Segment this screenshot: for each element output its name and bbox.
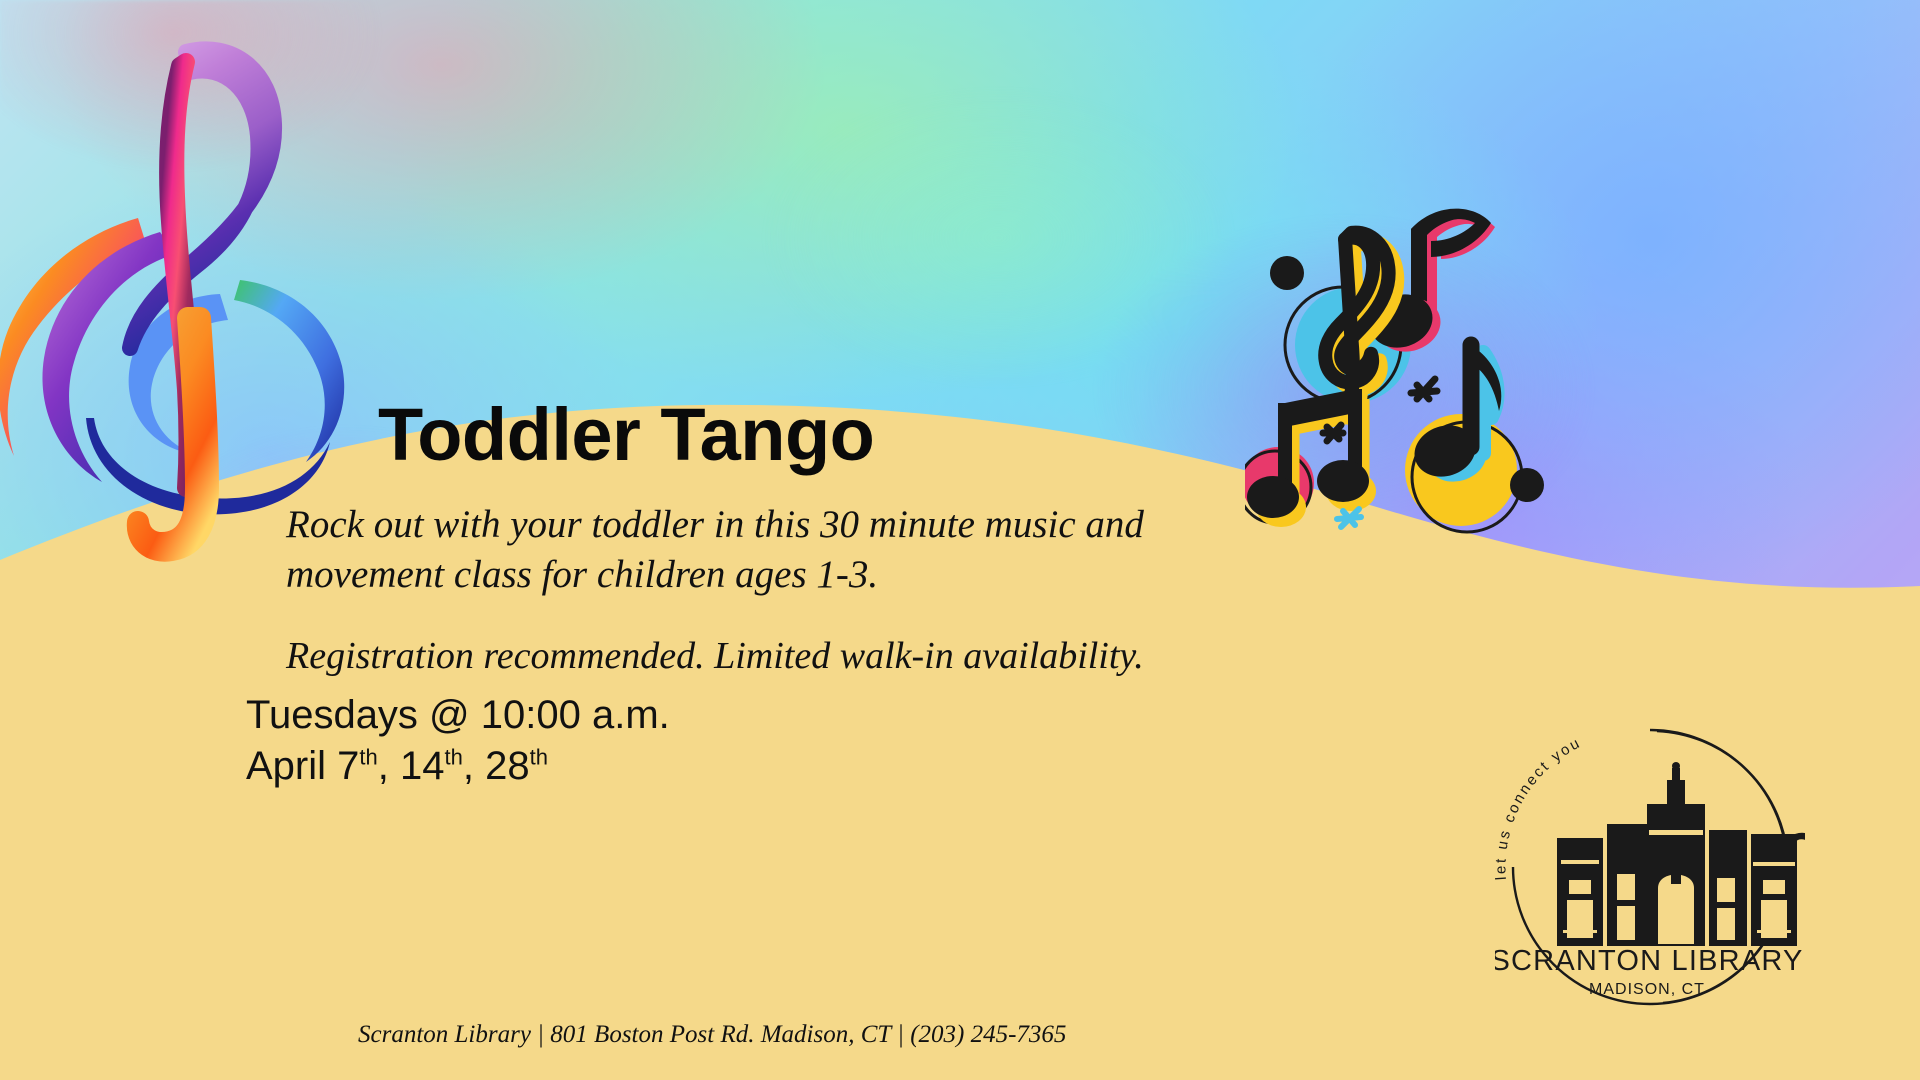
footer-contact: Scranton Library | 801 Boston Post Rd. M… (358, 1021, 1066, 1049)
schedule-day-3-suffix: th (530, 745, 548, 770)
poster-text-content: Toddler Tango Rock out with your toddler… (0, 0, 1920, 1080)
description-line-2: movement class for children ages 1-3. (286, 550, 1186, 600)
schedule-separator-1: , (378, 744, 400, 788)
description-text: Rock out with your toddler in this 30 mi… (286, 500, 1186, 600)
schedule-time: Tuesdays @ 10:00 a.m. (246, 690, 670, 741)
schedule-day-1-suffix: th (359, 745, 377, 770)
schedule-day-2-suffix: th (445, 745, 463, 770)
schedule-day-2: 14 (400, 744, 445, 788)
page-title: Toddler Tango (378, 398, 874, 472)
schedule-dates: April 7th, 14th, 28th (246, 741, 670, 792)
schedule-day-3: 28 (485, 744, 530, 788)
schedule-day-1: 7 (337, 744, 359, 788)
registration-note: Registration recommended. Limited walk-i… (286, 634, 1206, 678)
schedule-block: Tuesdays @ 10:00 a.m. April 7th, 14th, 2… (246, 690, 670, 792)
poster-canvas: let us connect you (0, 0, 1920, 1080)
schedule-month: April (246, 744, 326, 788)
schedule-separator-2: , (463, 744, 485, 788)
description-line-1: Rock out with your toddler in this 30 mi… (286, 500, 1186, 550)
